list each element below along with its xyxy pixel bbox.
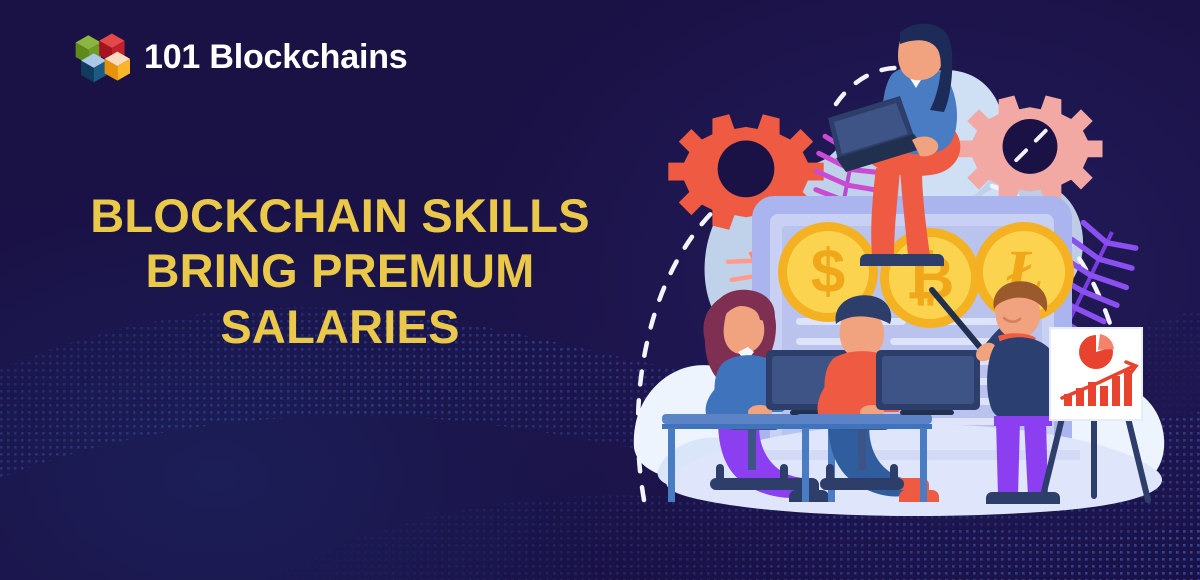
gear-pink-icon	[957, 95, 1102, 203]
headline-line-1: BLOCKCHAIN SKILLS	[60, 188, 620, 243]
blockchain-training-illustration: $ ₿ Ł	[600, 0, 1200, 580]
monitor-middle	[876, 350, 980, 415]
logo-text: 101 Blockchains	[144, 38, 407, 77]
headline-line-2: BRING PREMIUM	[60, 243, 620, 298]
logo[interactable]: 101 Blockchains	[72, 28, 407, 86]
headline-line-3: SALARIES	[60, 299, 620, 354]
banner-root: 101 Blockchains BLOCKCHAIN SKILLS BRING …	[0, 0, 1200, 580]
page-title: BLOCKCHAIN SKILLS BRING PREMIUM SALARIES	[60, 188, 620, 354]
coin-bitcoin: ₿	[880, 228, 980, 328]
three-cubes-logo-icon	[72, 28, 130, 86]
coin-dollar-symbol: $	[811, 238, 845, 307]
